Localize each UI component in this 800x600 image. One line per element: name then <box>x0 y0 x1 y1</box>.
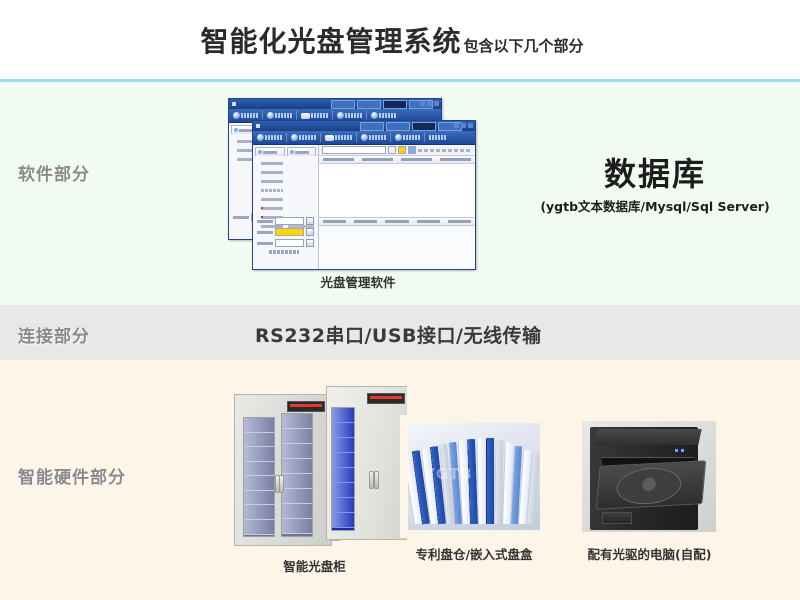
disc-shelf <box>332 408 354 423</box>
toolbar-button[interactable] <box>427 135 448 140</box>
table-column-header <box>385 220 408 223</box>
disc-shelf <box>244 505 274 520</box>
left-panel-field-row <box>261 171 283 174</box>
tab-label <box>295 151 309 154</box>
toolbar-button-label <box>275 113 292 118</box>
toolbar-button[interactable] <box>265 112 294 119</box>
toolbar-button[interactable] <box>369 112 398 119</box>
toolbar-button[interactable] <box>393 134 422 141</box>
connection-methods-text: RS232串口/USB接口/无线传输 <box>255 321 541 348</box>
watermark-text: YGTB <box>424 465 473 483</box>
toolbar-button[interactable] <box>335 112 364 119</box>
detail-table-header-row <box>319 217 475 226</box>
window-search-bar <box>319 145 475 156</box>
disc-in-icon <box>233 112 240 119</box>
form-field-label <box>233 216 249 219</box>
toolbar-separator <box>356 133 357 142</box>
record-count-text <box>418 149 472 152</box>
hardware-caption-trays: 专利盘仓/嵌入式盘盒 <box>400 544 548 563</box>
page-header: 智能化光盘管理系统 包含以下几个部分 <box>0 0 800 80</box>
pc-indicator-leds <box>675 449 684 452</box>
disc-shelf <box>332 483 354 498</box>
toolbar-button[interactable] <box>299 113 330 119</box>
cabinet-left <box>234 394 332 546</box>
hardware-item-pc: 配有光驱的电脑(自配) <box>572 415 727 563</box>
disc-shelf <box>282 489 312 504</box>
toolbar-separator <box>390 133 391 142</box>
close-icon[interactable] <box>468 123 473 128</box>
maximize-icon[interactable] <box>427 101 432 106</box>
toolbar-separator <box>286 133 287 142</box>
form-checkbox-row[interactable] <box>269 250 299 254</box>
pc-top-panel <box>594 429 701 445</box>
cabinet-led-display <box>367 393 405 404</box>
minimize-icon[interactable] <box>420 101 425 106</box>
disc-shelf <box>244 418 274 433</box>
window-body <box>253 145 475 270</box>
disc-shelf <box>244 491 274 506</box>
tray-photo-inner: YGTB <box>408 423 540 530</box>
form-field-label <box>257 220 273 223</box>
cabinet-glass-door-left <box>243 417 275 537</box>
left-panel-field-row-required <box>261 207 283 210</box>
database-title: 数据库 <box>520 158 790 192</box>
activity-led <box>681 449 684 452</box>
window-app-icon <box>232 102 236 106</box>
database-block: 数据库 (ygtb文本数据库/Mysql/Sql Server) <box>520 158 790 215</box>
disc-shelf <box>332 468 354 483</box>
toolbar-button[interactable] <box>231 112 260 119</box>
gear-icon <box>361 134 368 141</box>
table-column-header <box>448 220 471 223</box>
window-right-panel <box>319 145 475 270</box>
hardware-caption-pc: 配有光驱的电脑(自配) <box>572 544 727 563</box>
toolbar-button-label <box>311 113 328 118</box>
table-column-header <box>417 220 440 223</box>
window-titlebar <box>253 121 475 131</box>
disc-cabinet-photo <box>222 380 407 550</box>
toolbar-button-label <box>299 135 316 140</box>
toolbar-button-label <box>345 113 362 118</box>
minimize-icon[interactable] <box>454 123 459 128</box>
gear-icon <box>337 112 344 119</box>
toolbar-button-label <box>335 135 352 140</box>
window-tabs <box>360 122 462 131</box>
disc-shelf <box>332 423 354 438</box>
detail-table-body[interactable] <box>319 226 475 270</box>
cabinet-led-display <box>287 401 325 412</box>
disc-tray-photo: YGTB <box>400 415 548 538</box>
form-field-input[interactable] <box>275 217 304 225</box>
window-left-panel <box>253 145 319 270</box>
section-label-software: 软件部分 <box>18 160 90 185</box>
window-tab[interactable] <box>331 100 355 109</box>
optical-drive-tray-open[interactable] <box>596 460 707 509</box>
disc-shelf <box>282 474 312 489</box>
database-subtitle: (ygtb文本数据库/Mysql/Sql Server) <box>520 196 790 215</box>
disc-shelf <box>244 476 274 491</box>
page-title: 智能化光盘管理系统 包含以下几个部分 <box>200 20 583 60</box>
window-tabs <box>331 100 433 109</box>
form-field-label <box>257 242 273 245</box>
left-panel-tabs <box>253 145 318 156</box>
form-field[interactable] <box>257 217 314 225</box>
toolbar-separator <box>262 111 263 120</box>
section-label-connection: 连接部分 <box>18 322 90 347</box>
disc-tray <box>476 438 485 524</box>
form-field-browse-button[interactable] <box>306 217 314 225</box>
left-panel-field-row <box>261 162 283 165</box>
disc-platter <box>615 466 683 505</box>
table-column-header <box>440 158 471 161</box>
disc-shelf <box>332 438 354 453</box>
toolbar-separator <box>366 111 367 120</box>
led-readout <box>370 396 402 399</box>
table-header-row <box>319 156 475 164</box>
search-input[interactable] <box>322 146 386 154</box>
form-field-label <box>257 231 273 234</box>
toolbar-button-label <box>265 135 282 140</box>
toolbar-button-label <box>241 113 258 118</box>
pc-photo-inner <box>582 421 716 532</box>
disc-in-icon <box>257 134 264 141</box>
dropdown-icon[interactable] <box>388 146 396 154</box>
disc-query-icon <box>325 135 334 141</box>
toolbar-button-label <box>429 135 446 140</box>
window-tab[interactable] <box>360 122 384 131</box>
table-column-header <box>401 158 432 161</box>
window-controls[interactable] <box>454 123 473 128</box>
form-field-input[interactable] <box>275 239 304 247</box>
toolbar-button[interactable] <box>359 134 388 141</box>
disc-shelf <box>244 520 274 535</box>
disc-shelf <box>332 498 354 513</box>
disc-tray <box>486 438 494 524</box>
window-toolbar <box>253 131 475 145</box>
disc-shelf <box>282 414 312 429</box>
left-panel-form <box>257 217 314 254</box>
window-titlebar <box>229 99 441 109</box>
left-panel-field-row <box>261 198 283 201</box>
cabinet-door-handle[interactable] <box>374 471 379 489</box>
disc-query-icon <box>301 113 310 119</box>
tab-icon <box>290 150 294 154</box>
search-icon <box>371 112 378 119</box>
poster-root: 智能化光盘管理系统 包含以下几个部分 软件部分 <box>0 0 800 600</box>
form-field[interactable] <box>257 239 314 247</box>
close-icon[interactable] <box>434 101 439 106</box>
disc-shelf <box>282 519 312 534</box>
section-label-hardware: 智能硬件部分 <box>18 463 126 488</box>
window-tab-active[interactable] <box>383 100 407 109</box>
led-readout <box>290 404 322 407</box>
table-body[interactable] <box>319 164 475 217</box>
hardware-item-trays: YGTB 专利盘仓/嵌入式盘盒 <box>400 415 548 563</box>
title-main-text: 智能化光盘管理系统 <box>200 20 461 60</box>
form-field-highlighted[interactable] <box>257 228 314 236</box>
disc-shelf <box>244 447 274 462</box>
search-icon <box>395 134 402 141</box>
disc-out-icon <box>267 112 274 119</box>
disc-shelf <box>282 429 312 444</box>
disc-shelf <box>332 453 354 468</box>
left-panel-field-row <box>261 180 283 183</box>
toolbar-button-label <box>369 135 386 140</box>
pc-front-ports <box>602 512 632 524</box>
window-tab-active[interactable] <box>412 122 436 131</box>
disc-out-icon <box>291 134 298 141</box>
toolbar-button[interactable] <box>323 135 354 141</box>
toolbar-button-label <box>403 135 420 140</box>
refresh-icon[interactable] <box>408 146 416 154</box>
disc-shelf <box>282 459 312 474</box>
table-column-header <box>323 220 346 223</box>
window-controls[interactable] <box>420 101 439 106</box>
software-screenshot-group <box>228 98 488 270</box>
software-screenshot-caption: 光盘管理软件 <box>228 272 488 291</box>
maximize-icon[interactable] <box>461 123 466 128</box>
table-column-header <box>362 158 393 161</box>
tab-label <box>239 129 253 132</box>
toolbar-button-label <box>379 113 396 118</box>
app-window-front <box>252 120 476 270</box>
form-field-browse-button[interactable] <box>306 228 314 236</box>
toolbar-button[interactable] <box>255 134 284 141</box>
tab-icon <box>258 150 262 154</box>
left-panel-tab[interactable] <box>255 147 285 156</box>
folder-icon[interactable] <box>398 146 406 154</box>
hardware-item-cabinet: 智能光盘柜 <box>222 380 407 575</box>
toolbar-separator <box>320 133 321 142</box>
window-app-icon <box>256 124 260 128</box>
toolbar-separator <box>332 111 333 120</box>
cabinet-glass-door-lit <box>331 407 355 531</box>
toolbar-button[interactable] <box>289 134 318 141</box>
tab-icon <box>234 128 238 132</box>
cabinet-door-handle[interactable] <box>279 475 284 493</box>
table-column-header <box>354 220 377 223</box>
tab-label <box>263 151 277 154</box>
form-field-browse-button[interactable] <box>306 239 314 247</box>
window-caption <box>239 102 240 106</box>
disc-shelf <box>332 513 354 528</box>
window-caption <box>263 124 264 128</box>
title-sub-text: 包含以下几个部分 <box>464 35 584 56</box>
cabinet-right <box>326 386 407 540</box>
disc-shelf <box>244 462 274 477</box>
hardware-caption-cabinet: 智能光盘柜 <box>222 556 407 575</box>
toolbar-separator <box>296 111 297 120</box>
disc-shelf <box>282 504 312 519</box>
left-panel-tab[interactable] <box>287 147 317 156</box>
window-tab[interactable] <box>357 100 381 109</box>
form-field-input-active[interactable] <box>275 228 304 236</box>
left-panel-field-row <box>261 189 283 192</box>
cabinet-glass-door-right <box>281 413 313 537</box>
window-tab[interactable] <box>386 122 410 131</box>
computer-with-optical-drive-photo <box>572 415 727 538</box>
toolbar-separator <box>424 133 425 142</box>
disc-shelf <box>244 433 274 448</box>
power-led <box>675 449 678 452</box>
table-column-header <box>323 158 354 161</box>
disc-shelf <box>282 444 312 459</box>
